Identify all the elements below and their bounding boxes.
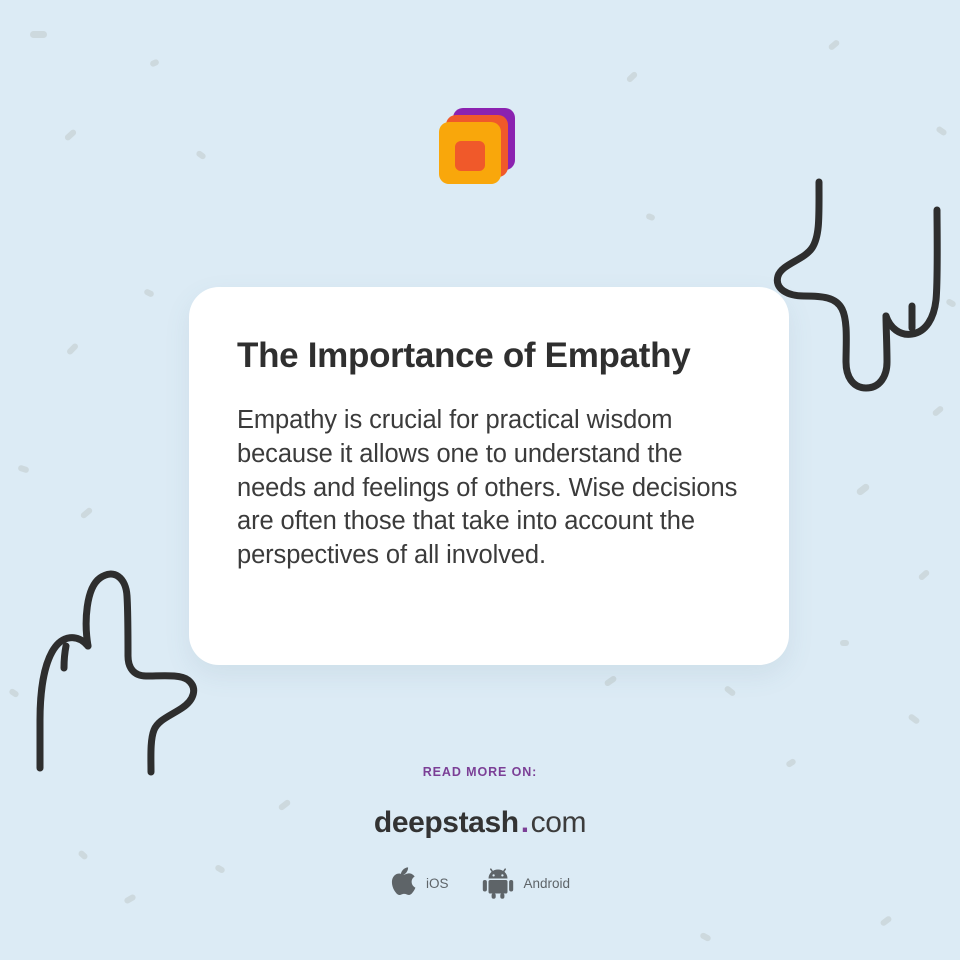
confetti-speck (66, 342, 79, 355)
android-icon (482, 867, 514, 899)
card-title: The Importance of Empathy (237, 335, 741, 376)
footer: READ MORE ON: deepstash.com iOS (0, 765, 960, 899)
confetti-speck (827, 39, 840, 51)
confetti-speck (80, 507, 94, 520)
confetti-speck (945, 298, 957, 308)
card-body-text: Empathy is crucial for practical wisdom … (237, 404, 741, 572)
idea-card: The Importance of Empathy Empathy is cru… (189, 287, 789, 665)
confetti-speck (603, 675, 617, 687)
read-more-label: READ MORE ON: (423, 765, 537, 779)
store-badges: iOS (390, 867, 570, 899)
ios-badge-label: iOS (426, 876, 449, 891)
apple-icon (390, 867, 417, 899)
site-wordmark[interactable]: deepstash.com (374, 806, 586, 840)
confetti-speck (8, 688, 20, 699)
pointing-up-hand-icon (22, 568, 207, 778)
confetti-speck (931, 405, 944, 417)
confetti-speck (149, 58, 160, 67)
confetti-speck (918, 569, 931, 581)
confetti-speck (907, 713, 920, 725)
confetti-speck (17, 464, 29, 473)
confetti-speck (840, 640, 849, 646)
confetti-speck (723, 685, 736, 697)
android-badge-label: Android (523, 876, 570, 891)
confetti-speck (645, 213, 656, 222)
pointing-hand-icon (760, 176, 960, 396)
ios-store-badge[interactable]: iOS (390, 867, 449, 899)
confetti-speck (143, 288, 155, 298)
wordmark-tld: com (531, 806, 586, 840)
confetti-speck (699, 932, 712, 942)
confetti-speck (626, 71, 639, 84)
confetti-speck (855, 482, 870, 496)
confetti-speck (879, 915, 892, 927)
wordmark-name: deepstash (374, 806, 519, 840)
android-store-badge[interactable]: Android (482, 867, 570, 899)
deepstash-logo (0, 104, 960, 196)
wordmark-dot: . (519, 806, 531, 840)
confetti-speck (30, 31, 47, 38)
